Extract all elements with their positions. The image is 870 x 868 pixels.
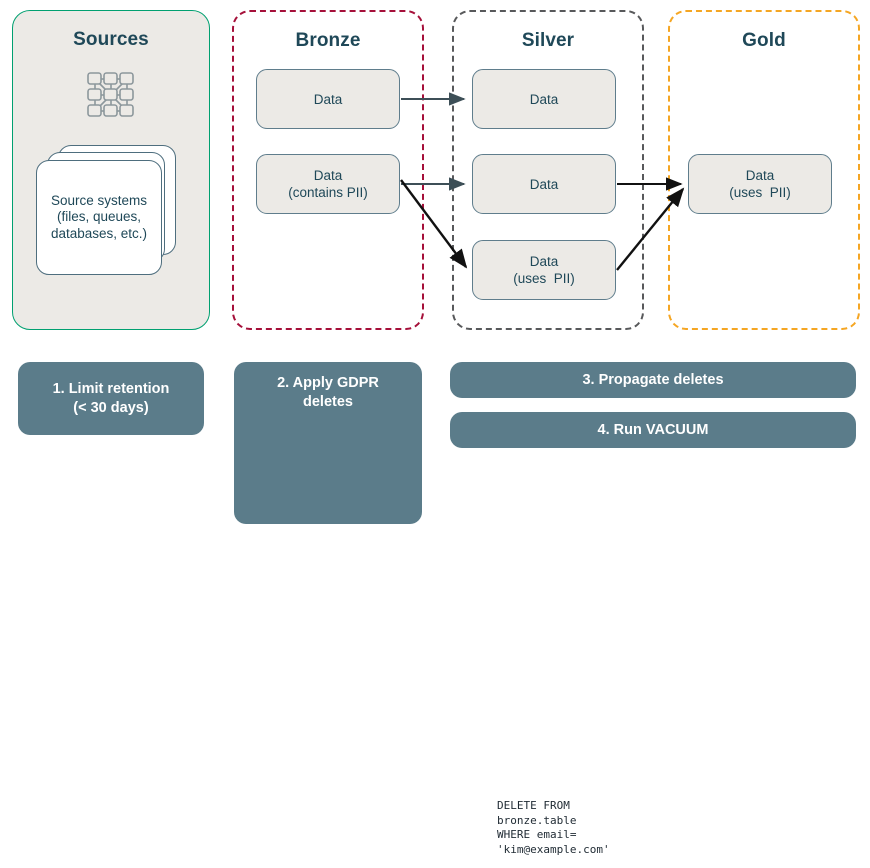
zone-bronze-title: Bronze bbox=[234, 30, 422, 52]
step-1-label: 1. Limit retention (< 30 days) bbox=[53, 380, 170, 418]
sql-snippet-box: DELETE FROM bronze.table WHERE email= 'k… bbox=[486, 790, 642, 868]
step-2-label: 2. Apply GDPR deletes bbox=[234, 374, 422, 412]
bronze-data-box[interactable]: Data bbox=[256, 69, 400, 129]
step-run-vacuum[interactable]: 4. Run VACUUM bbox=[450, 412, 856, 448]
sql-code: DELETE FROM bronze.table WHERE email= 'k… bbox=[497, 799, 642, 857]
zone-silver-title: Silver bbox=[454, 30, 642, 52]
step-propagate-deletes[interactable]: 3. Propagate deletes bbox=[450, 362, 856, 398]
silver-data-box-2[interactable]: Data bbox=[472, 154, 616, 214]
zone-gold-title: Gold bbox=[670, 30, 858, 52]
step-3-label: 3. Propagate deletes bbox=[582, 371, 723, 390]
silver-data-uses-pii-box[interactable]: Data (uses PII) bbox=[472, 240, 616, 300]
network-nodes-icon bbox=[84, 70, 138, 120]
silver-data-box-1[interactable]: Data bbox=[472, 69, 616, 129]
diagram-canvas: Sources Bronze Silver Gold bbox=[0, 0, 870, 540]
step-4-label: 4. Run VACUUM bbox=[598, 421, 709, 440]
step-limit-retention[interactable]: 1. Limit retention (< 30 days) bbox=[18, 362, 204, 435]
source-systems-stack: Source systems (files, queues, databases… bbox=[36, 145, 176, 275]
zone-sources-title: Sources bbox=[13, 29, 209, 51]
step-apply-gdpr-deletes[interactable]: 2. Apply GDPR deletes DELETE FROM bronze… bbox=[234, 362, 422, 524]
gold-data-uses-pii-box[interactable]: Data (uses PII) bbox=[688, 154, 832, 214]
bronze-data-pii-box[interactable]: Data (contains PII) bbox=[256, 154, 400, 214]
source-systems-label: Source systems (files, queues, databases… bbox=[37, 193, 161, 243]
stack-card-front: Source systems (files, queues, databases… bbox=[36, 160, 162, 275]
